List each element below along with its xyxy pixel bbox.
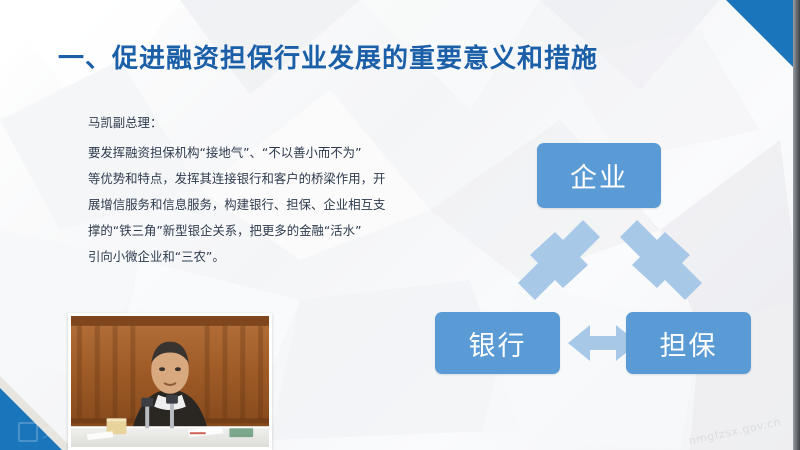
body-line-2: 等优势和特点，发挥其连接银行和客户的桥梁作用，开 — [88, 166, 428, 192]
diagram-node-bank-label: 银行 — [469, 324, 527, 363]
body-line-1: 要发挥融资担保机构“接地气”、“不以善小而不为” — [88, 140, 428, 166]
relationship-diagram: 企业 银行 担保 — [430, 125, 790, 390]
body-line-3: 展增信服务和信息服务，构建银行、担保、企业相互支 — [88, 192, 428, 218]
body-lead: 马凯副总理： — [88, 110, 428, 136]
watermark-logo-icon — [18, 422, 38, 442]
body-line-5: 引向小微企业和“三农”。 — [88, 244, 428, 270]
speaker-photo — [68, 313, 272, 450]
diagram-node-bank[interactable]: 银行 — [435, 312, 560, 374]
body-text-block: 马凯副总理： 要发挥融资担保机构“接地气”、“不以善小而不为” 等优势和特点，发… — [88, 110, 428, 270]
diagram-node-guarantee[interactable]: 担保 — [626, 312, 751, 374]
diagram-node-enterprise-label: 企业 — [570, 156, 628, 195]
body-line-4: 撑的“铁三角”新型银企关系，把更多的金融“活水” — [88, 218, 428, 244]
right-edge-border — [793, 0, 800, 450]
watermark-logo: 文库 — [18, 422, 68, 442]
diagram-node-enterprise[interactable]: 企业 — [537, 143, 661, 208]
watermark-logo-label: 文库 — [42, 424, 68, 441]
corner-decoration-top-right — [726, 0, 800, 74]
diagram-node-guarantee-label: 担保 — [660, 324, 718, 363]
slide-title: 一、促进融资担保行业发展的重要意义和措施 — [58, 38, 598, 75]
speaker-photo-image — [71, 316, 269, 447]
arrow-bank-enterprise — [518, 220, 600, 300]
arrow-enterprise-guarantee — [620, 220, 702, 300]
slide-canvas: 一、促进融资担保行业发展的重要意义和措施 马凯副总理： 要发挥融资担保机构“接地… — [0, 0, 800, 450]
